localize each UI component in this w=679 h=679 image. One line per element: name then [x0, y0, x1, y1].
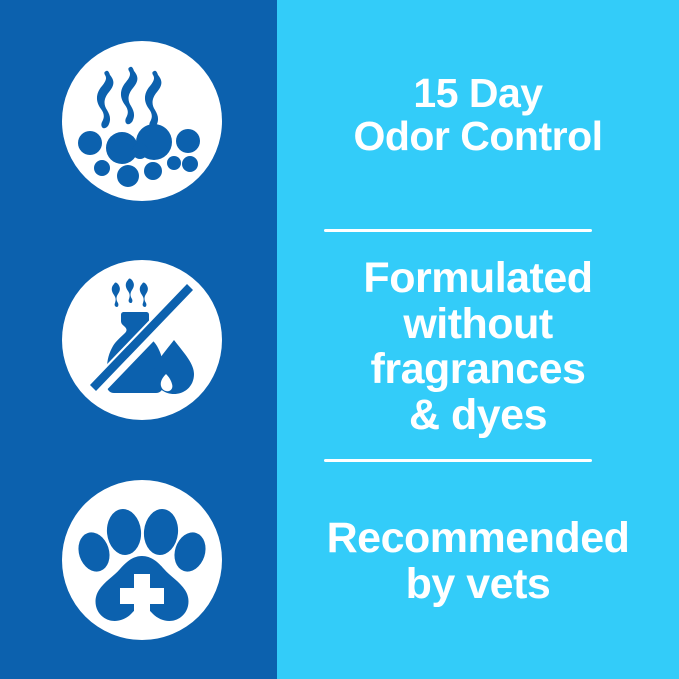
feature-line: Formulated	[295, 256, 661, 302]
feature-text-odor-control: 15 Day Odor Control	[277, 72, 679, 159]
product-features-infographic: 15 Day Odor Control Formulated without f…	[0, 0, 679, 679]
feature-text-recommended-by-vets: Recommended by vets	[277, 516, 679, 607]
vet-recommended-paw-icon	[62, 480, 222, 640]
feature-line: without	[295, 302, 661, 348]
feature-line: by vets	[295, 562, 661, 608]
divider-after-odor-control	[324, 229, 592, 232]
divider-after-fragrances	[324, 459, 592, 462]
feature-line: & dyes	[295, 393, 661, 439]
feature-line: Recommended	[295, 516, 661, 562]
no-fragrance-dyes-icon	[62, 260, 222, 420]
text-panel: 15 Day Odor Control Formulated without f…	[277, 0, 679, 679]
icon-panel	[0, 0, 277, 679]
feature-line: 15 Day	[295, 72, 661, 115]
feature-line: Odor Control	[295, 115, 661, 158]
feature-text-no-fragrances-dyes: Formulated without fragrances & dyes	[277, 256, 679, 438]
odor-molecules-icon	[62, 41, 222, 201]
feature-line: fragrances	[295, 347, 661, 393]
